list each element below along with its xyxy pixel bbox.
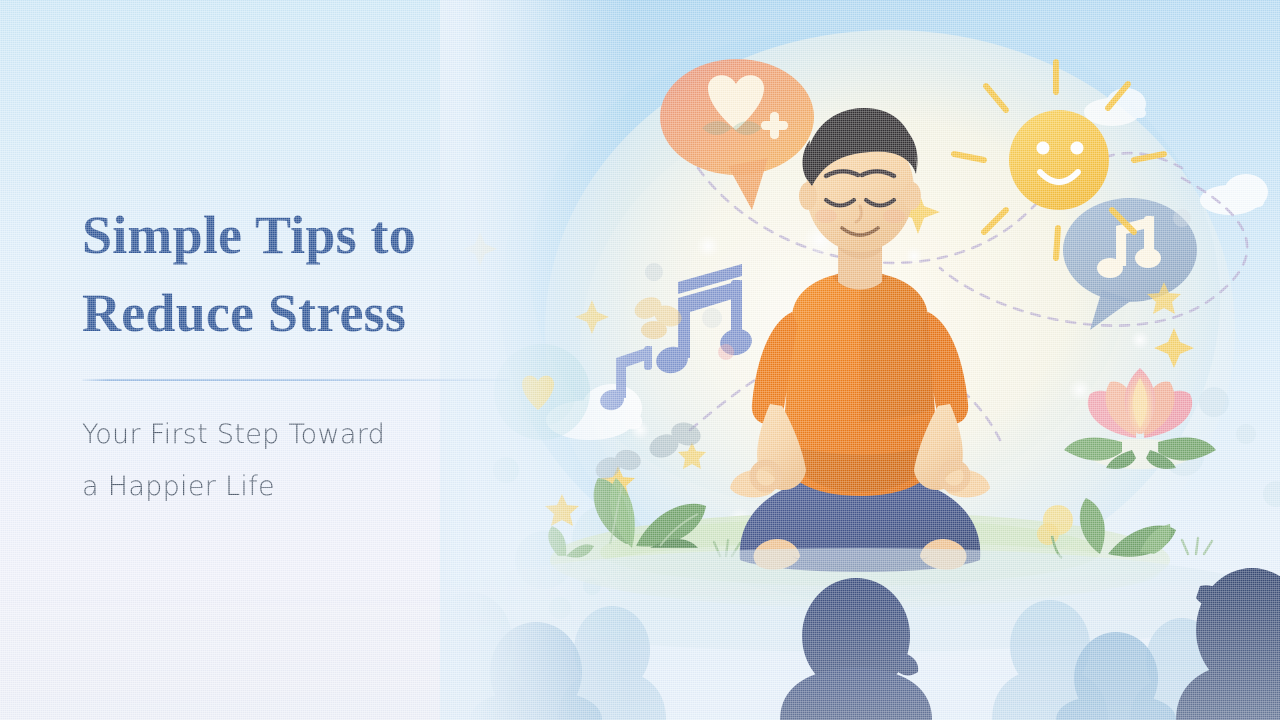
title-slide: Simple Tips to Reduce Stress Your First … bbox=[0, 0, 1280, 720]
text-column: Simple Tips to Reduce Stress Your First … bbox=[82, 196, 522, 514]
page-subtitle: Your First Step Toward a Happier Life bbox=[82, 409, 522, 514]
title-divider bbox=[82, 379, 510, 381]
illustration bbox=[440, 0, 1280, 720]
page-title: Simple Tips to Reduce Stress bbox=[82, 196, 522, 353]
